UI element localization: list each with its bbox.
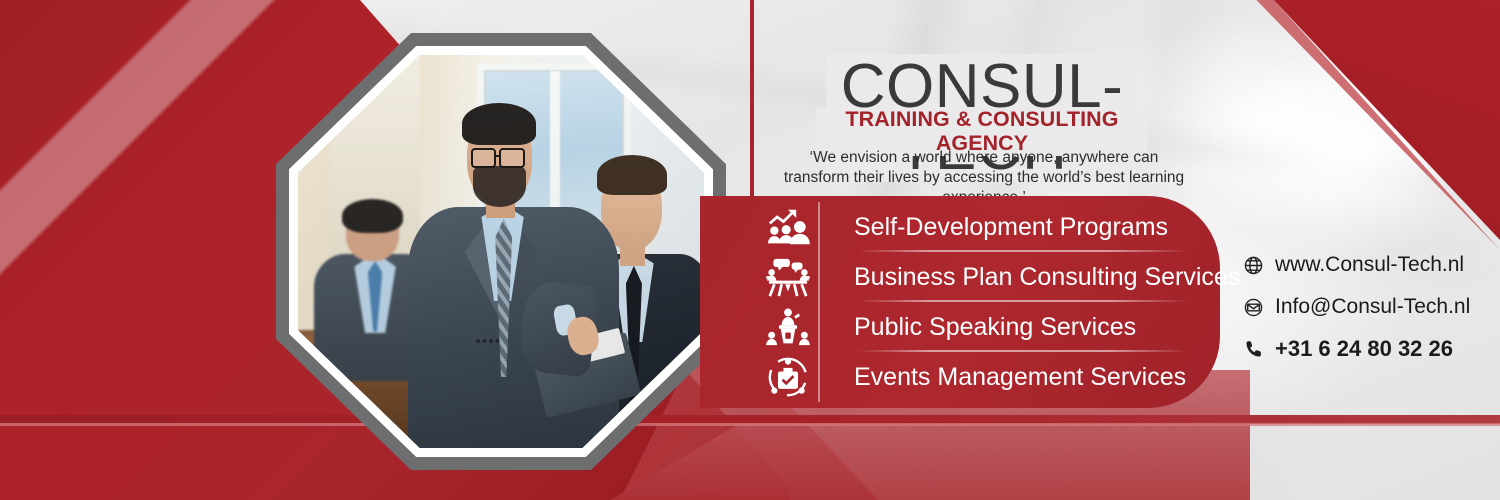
service-label: Public Speaking Services — [854, 313, 1136, 341]
service-item[interactable]: Business Plan Consulting Services — [762, 252, 1220, 302]
logo: CONSUL-TECH TRAINING & CONSULTING AGENCY — [826, 58, 1138, 143]
events-calendar-icon — [762, 356, 814, 398]
contact-email-row[interactable]: Info@Consul-Tech.nl — [1240, 294, 1490, 320]
services-panel: Self-Development Programs — [700, 196, 1220, 408]
meeting-table-icon — [762, 256, 814, 298]
phone-icon — [1240, 336, 1266, 362]
service-item[interactable]: Events Management Services — [762, 352, 1220, 402]
vertical-divider-rule — [750, 0, 754, 198]
service-item[interactable]: Self-Development Programs — [762, 202, 1220, 252]
website-text: www.Consul-Tech.nl — [1275, 253, 1464, 277]
banner-root: CONSUL-TECH TRAINING & CONSULTING AGENCY… — [0, 0, 1500, 500]
service-label: Events Management Services — [854, 363, 1186, 391]
podium-speaker-icon — [762, 306, 814, 348]
service-item[interactable]: Public Speaking Services — [762, 302, 1220, 352]
phone-text: +31 6 24 80 32 26 — [1275, 337, 1453, 361]
email-text: Info@Consul-Tech.nl — [1275, 295, 1470, 319]
contact-block: www.Consul-Tech.nl Info@Consul-Tech.nl +… — [1240, 252, 1490, 378]
globe-icon — [1240, 252, 1266, 278]
contact-phone-row[interactable]: +31 6 24 80 32 26 — [1240, 336, 1490, 362]
growth-people-icon — [762, 206, 814, 248]
contact-website-row[interactable]: www.Consul-Tech.nl — [1240, 252, 1490, 278]
photo-frame — [276, 33, 726, 470]
service-label: Self-Development Programs — [854, 213, 1168, 241]
service-label: Business Plan Consulting Services — [854, 263, 1240, 291]
bottom-red-rule-highlight — [0, 423, 1500, 426]
envelope-icon — [1240, 294, 1266, 320]
services-list: Self-Development Programs — [762, 202, 1220, 402]
